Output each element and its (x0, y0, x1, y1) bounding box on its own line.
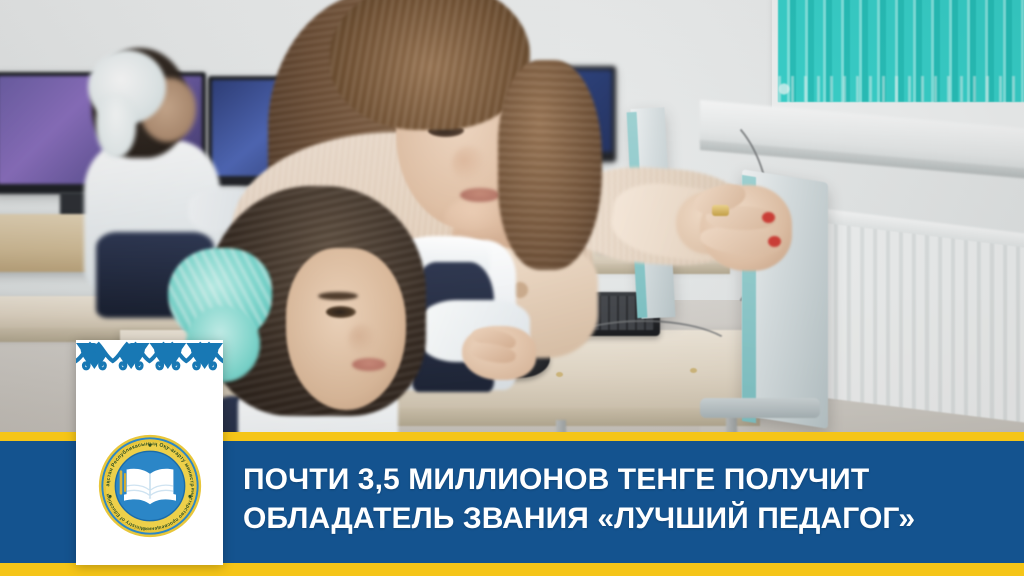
foreground-girl-nose (348, 324, 376, 354)
teacher-nose (452, 146, 486, 182)
teacher-fingernail (762, 212, 775, 223)
headline-line-2: ОБЛАДАТЕЛЬ ЗВАНИЯ «ЛУЧШИЙ ПЕДАГОГ» (243, 499, 1013, 538)
foreground-girl-eye (326, 306, 356, 318)
banner-headline: ПОЧТИ 3,5 МИЛЛИОНОВ ТЕНГЕ ПОЛУЧИТ ОБЛАДА… (243, 460, 1013, 538)
screenshot-root: ПОЧТИ 3,5 МИЛЛИОНОВ ТЕНГЕ ПОЛУЧИТ ОБЛАДА… (0, 0, 1024, 576)
foreground-girl-lips (352, 358, 386, 371)
ministry-of-education-emblem: Қазақстан Республикасының Оқу-ағарту мин… (98, 434, 202, 538)
blinds-lace-trim (778, 76, 1024, 102)
kazakh-ornament-icon (76, 340, 223, 382)
teacher-hair-top (330, 0, 530, 130)
silver-monitor-foot (700, 398, 820, 418)
foreground-girl-eyebrow (318, 292, 358, 300)
teacher-hair-side (498, 60, 602, 270)
emblem-wrap: Қазақстан Республикасының Оқу-ағарту мин… (76, 426, 223, 546)
teacher-lips (460, 188, 500, 202)
headline-line-1: ПОЧТИ 3,5 МИЛЛИОНОВ ТЕНГЕ ПОЛУЧИТ (243, 460, 1013, 499)
open-book-icon (124, 469, 176, 504)
foreground-girl-face (286, 248, 406, 410)
teacher-fingernail (768, 236, 781, 247)
teacher-gold-ring (712, 205, 729, 216)
logo-card: Қазақстан Республикасының Оқу-ағарту мин… (76, 340, 223, 565)
background-student-white-bow-tail (96, 96, 136, 158)
